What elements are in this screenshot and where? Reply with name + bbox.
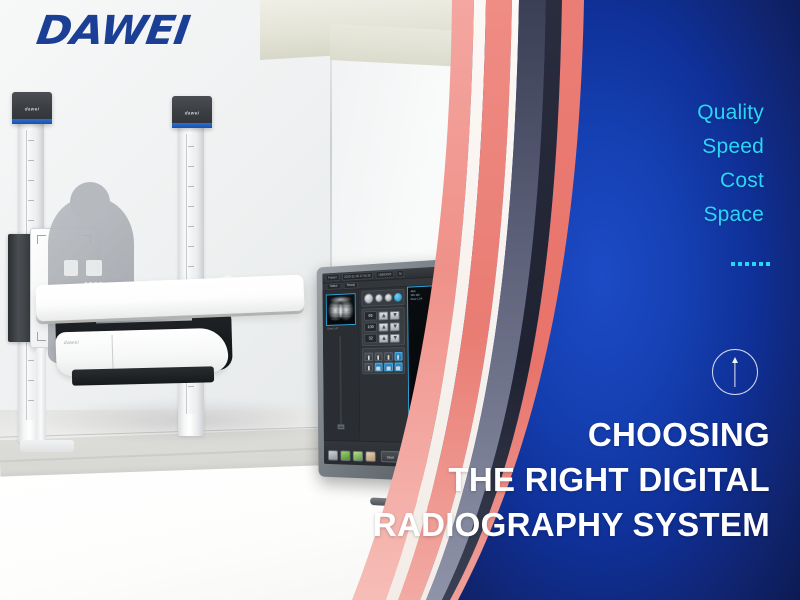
benefit-quality: Quality	[504, 96, 764, 130]
patient-sex-field[interactable]: M	[396, 270, 404, 278]
exposure-row-kv: 65	[364, 310, 402, 321]
technique-preset-3-icon[interactable]	[394, 293, 402, 302]
overlay-top-left: AEC SID 100 Dose 1.24	[411, 289, 422, 302]
anatomy-preset-icon[interactable]	[364, 293, 373, 304]
ellipsis-dot	[759, 262, 763, 266]
tube-column-head-accent	[172, 123, 212, 128]
kv-decrease-button[interactable]	[390, 311, 400, 320]
invert-icon[interactable]	[384, 352, 392, 361]
kv-increase-button[interactable]	[379, 311, 389, 320]
page-title: CHOOSING THE RIGHT DIGITAL RADIOGRAPHY S…	[70, 412, 770, 547]
benefit-speed: Speed	[504, 130, 764, 164]
window-level-icon[interactable]	[384, 363, 392, 372]
measure-icon[interactable]	[365, 363, 373, 372]
headline-line-3: RADIOGRAPHY SYSTEM	[70, 502, 770, 547]
equipment-brand-label-3: dawei	[64, 340, 80, 346]
wall-stand-foot	[20, 440, 74, 452]
mas-decrease-button[interactable]	[390, 333, 400, 342]
ma-increase-button[interactable]	[379, 322, 389, 331]
benefits-list: Quality Speed Cost Space	[504, 96, 764, 232]
technique-preset-1-icon[interactable]	[375, 294, 383, 303]
banner-canvas: dawei dawei	[0, 0, 800, 600]
exposure-values-group: 65 100 32	[362, 307, 405, 346]
wall-stand-head-accent	[12, 119, 52, 124]
chest-xray-thumbnail[interactable]	[326, 293, 356, 326]
dawei-logo: DAWEI	[34, 8, 221, 54]
benefit-space: Space	[504, 198, 764, 232]
preset-buttons-group	[361, 289, 404, 307]
ellipsis-dots	[650, 262, 770, 266]
patient-name-field[interactable]: Patient	[326, 274, 340, 282]
status-value: Ready	[343, 282, 358, 289]
flip-icon[interactable]	[374, 352, 382, 361]
headline-line-1: CHOOSING	[70, 412, 770, 457]
wall-stand-lower-arm	[36, 348, 46, 444]
ellipsis-dot	[731, 262, 735, 266]
technique-preset-2-icon[interactable]	[384, 293, 392, 302]
arrow-head	[732, 357, 738, 363]
mas-value[interactable]: 32	[364, 334, 377, 344]
status-label: Status	[327, 283, 342, 290]
rotate-icon[interactable]	[365, 353, 373, 362]
save-icon[interactable]	[394, 362, 402, 371]
arrow-shaft	[734, 359, 735, 387]
wall-stand-head: dawei	[12, 92, 52, 124]
exposure-row-ma: 100	[364, 321, 402, 332]
headline-line-2: THE RIGHT DIGITAL	[70, 457, 770, 502]
patient-id-field[interactable]: 19800000	[376, 270, 394, 279]
study-datetime: 2020-12-18 17:43:16	[342, 272, 374, 281]
exposure-row-mas: 32	[364, 333, 402, 343]
ellipsis-dot	[738, 262, 742, 266]
thumbnail-caption: Chest LAT	[327, 326, 338, 330]
tube-column-head: dawei	[172, 96, 212, 128]
mas-increase-button[interactable]	[379, 334, 389, 343]
ma-decrease-button[interactable]	[390, 322, 400, 331]
equipment-brand-label-2: dawei	[185, 110, 200, 115]
ellipsis-dot	[766, 262, 770, 266]
kv-value[interactable]: 65	[364, 311, 377, 321]
equipment-brand-label-1: dawei	[25, 106, 40, 111]
ellipsis-dot	[745, 262, 749, 266]
image-tools-group	[362, 347, 405, 374]
annotate-icon[interactable]	[374, 363, 382, 372]
benefit-cost: Cost	[504, 164, 764, 198]
ellipsis-dot	[752, 262, 756, 266]
image-tools-row-1	[365, 352, 403, 361]
ma-value[interactable]: 100	[364, 322, 377, 332]
arrow-up-circle-icon	[712, 349, 758, 395]
image-tools-row-2	[365, 362, 403, 371]
zoom-icon[interactable]	[394, 352, 402, 361]
